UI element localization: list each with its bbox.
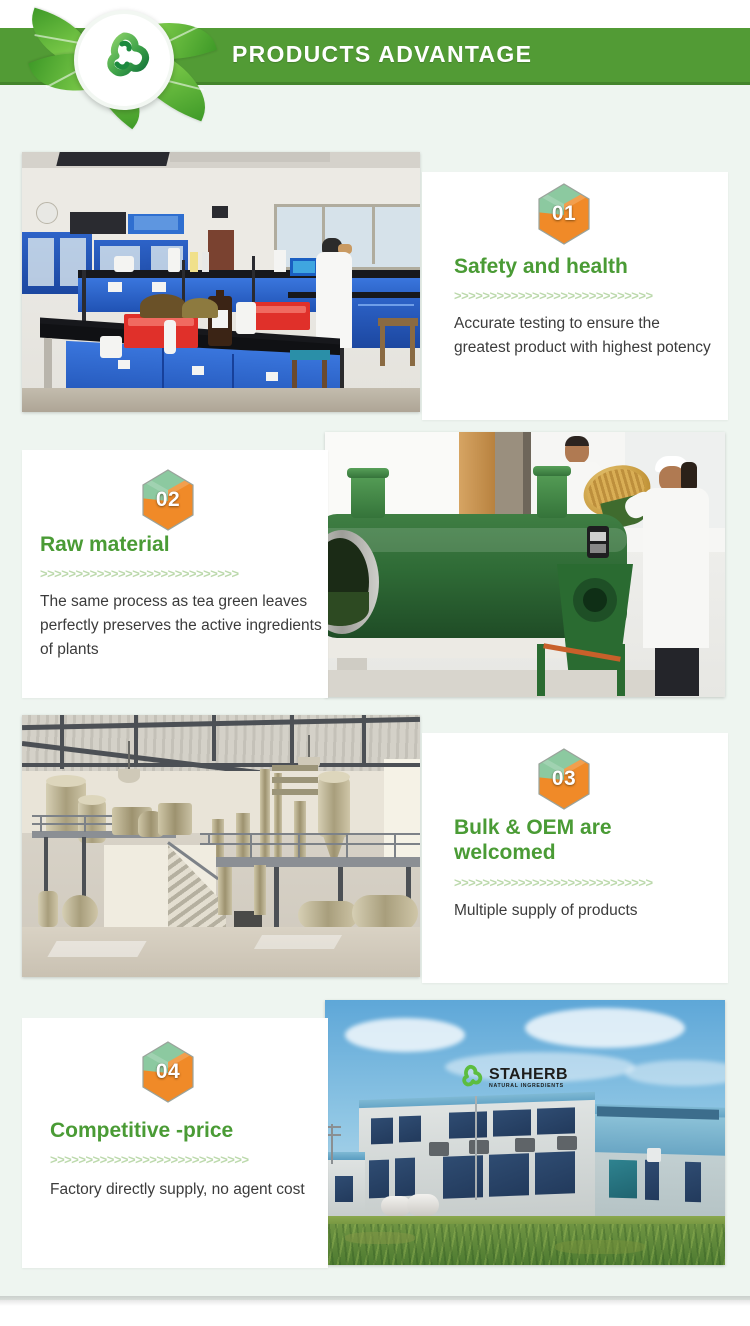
staherb-leaf-logo (22, 0, 232, 112)
step-number: 03 (536, 747, 592, 811)
advantage-title-02: Raw material (40, 532, 310, 557)
laboratory-photo (22, 152, 420, 412)
step-badge-01: 01 (536, 182, 592, 246)
brand-name: STAHERB (489, 1067, 568, 1083)
advantage-body-04: Factory directly supply, no agent cost (50, 1178, 312, 1202)
roasting-drum-photo (325, 432, 725, 697)
step-number: 01 (536, 182, 592, 246)
factory-building-photo: STAHERB NATURAL INGREDIENTS (325, 1000, 725, 1265)
step-number: 04 (140, 1040, 196, 1104)
advantage-card-01: 01 Safety and health >>>>>>>>>>>>>>>>>>>… (422, 172, 728, 420)
chevron-divider-icon: >>>>>>>>>>>>>>>>>>>>>>>>>>>> (454, 875, 706, 890)
staherb-logo-icon (455, 1063, 485, 1093)
page-bottom-shadow (0, 1296, 750, 1306)
advantage-title-01: Safety and health (454, 254, 714, 279)
advantage-body-03: Multiple supply of products (454, 899, 704, 923)
advantage-card-04: 04 Competitive -price >>>>>>>>>>>>>>>>>>… (22, 1018, 328, 1268)
workshop-interior-photo (22, 715, 420, 977)
building-brand-sign: STAHERB NATURAL INGREDIENTS (455, 1062, 595, 1094)
advantage-title-04: Competitive -price (50, 1118, 322, 1143)
chevron-divider-icon: >>>>>>>>>>>>>>>>>>>>>>>>>>>> (50, 1152, 302, 1167)
triangle-swirl-icon (92, 28, 156, 92)
logo-circle-badge (74, 10, 174, 110)
brand-tagline: NATURAL INGREDIENTS (489, 1083, 568, 1090)
products-advantage-page: PRODUCTS ADVANTAGE (0, 0, 750, 1326)
step-badge-02: 02 (140, 468, 196, 532)
page-title: PRODUCTS ADVANTAGE (232, 41, 532, 68)
advantage-body-02: The same process as tea green leaves per… (40, 590, 322, 662)
advantage-body-01: Accurate testing to ensure the greatest … (454, 312, 716, 360)
step-badge-04: 04 (140, 1040, 196, 1104)
step-number: 02 (140, 468, 196, 532)
advantage-card-03: 03 Bulk & OEM are welcomed >>>>>>>>>>>>>… (422, 733, 728, 983)
chevron-divider-icon: >>>>>>>>>>>>>>>>>>>>>>>>>>>> (40, 566, 292, 581)
step-badge-03: 03 (536, 747, 592, 811)
advantage-title-03: Bulk & OEM are welcomed (454, 815, 674, 865)
advantage-card-02: 02 Raw material >>>>>>>>>>>>>>>>>>>>>>>>… (22, 450, 328, 698)
chevron-divider-icon: >>>>>>>>>>>>>>>>>>>>>>>>>>>> (454, 288, 706, 303)
